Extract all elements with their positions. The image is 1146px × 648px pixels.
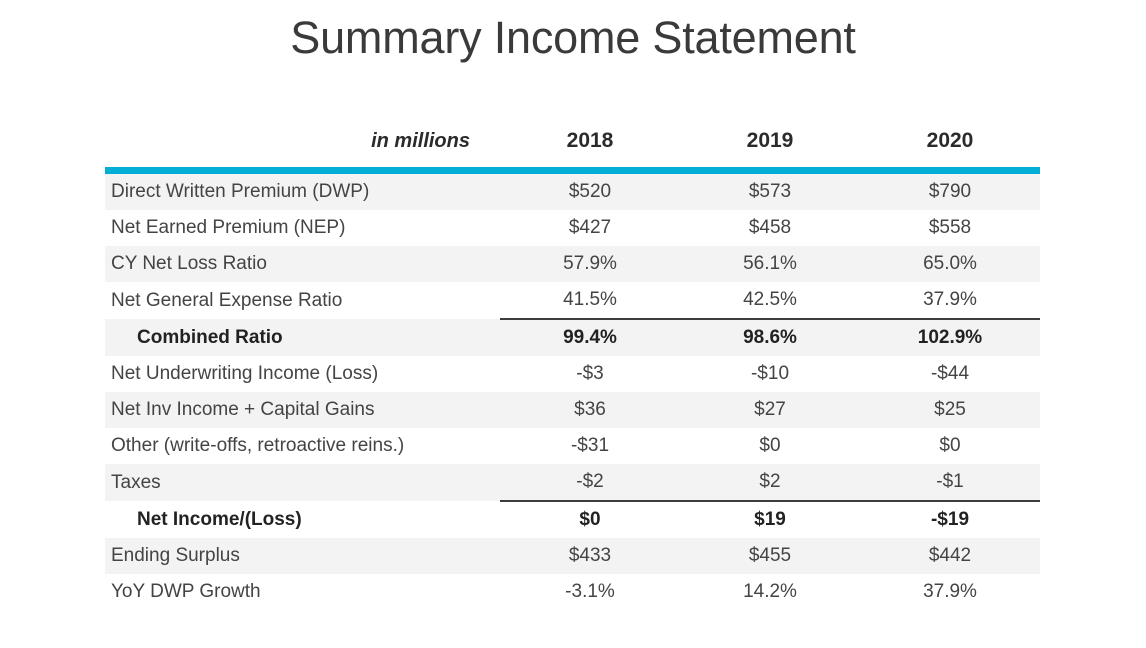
row-value: $25: [860, 392, 1040, 428]
row-value: -$19: [860, 501, 1040, 538]
row-label: Net Inv Income + Capital Gains: [105, 392, 500, 428]
row-value: -$44: [860, 356, 1040, 392]
row-label: Other (write-offs, retroactive reins.): [105, 428, 500, 464]
table-row: Net Inv Income + Capital Gains$36$27$25: [105, 392, 1040, 428]
row-value: $19: [680, 501, 860, 538]
row-value: 14.2%: [680, 574, 860, 610]
row-label: Ending Surplus: [105, 538, 500, 574]
table-row: Net Underwriting Income (Loss)-$3-$10-$4…: [105, 356, 1040, 392]
row-value: $558: [860, 210, 1040, 246]
row-value: 37.9%: [860, 282, 1040, 319]
row-value: 102.9%: [860, 319, 1040, 356]
row-value: $2: [680, 464, 860, 501]
row-value: 42.5%: [680, 282, 860, 319]
row-value: 37.9%: [860, 574, 1040, 610]
row-label: Net Income/(Loss): [105, 501, 500, 538]
row-value: -$3: [500, 356, 680, 392]
table-row: YoY DWP Growth-3.1%14.2%37.9%: [105, 574, 1040, 610]
table-row: Net General Expense Ratio41.5%42.5%37.9%: [105, 282, 1040, 319]
row-label: CY Net Loss Ratio: [105, 246, 500, 282]
row-value: 56.1%: [680, 246, 860, 282]
row-value: $427: [500, 210, 680, 246]
row-label: Combined Ratio: [105, 319, 500, 356]
header-units-label: in millions: [105, 115, 500, 167]
table-row: Net Income/(Loss)$0$19-$19: [105, 501, 1040, 538]
row-label: Net General Expense Ratio: [105, 282, 500, 319]
row-label: Direct Written Premium (DWP): [105, 174, 500, 210]
table-body: Direct Written Premium (DWP)$520$573$790…: [105, 167, 1040, 610]
row-value: -$1: [860, 464, 1040, 501]
row-value: $520: [500, 174, 680, 210]
row-value: $455: [680, 538, 860, 574]
column-header-year-2020: 2020: [860, 115, 1040, 167]
table-row: Other (write-offs, retroactive reins.)-$…: [105, 428, 1040, 464]
row-value: -$2: [500, 464, 680, 501]
row-value: 65.0%: [860, 246, 1040, 282]
table-row: Net Earned Premium (NEP)$427$458$558: [105, 210, 1040, 246]
accent-bar-segment: [680, 167, 860, 174]
accent-bar-segment: [500, 167, 680, 174]
row-value: $790: [860, 174, 1040, 210]
row-value: $458: [680, 210, 860, 246]
table-row: Ending Surplus$433$455$442: [105, 538, 1040, 574]
accent-bar-row: [105, 167, 1040, 174]
row-label: Net Underwriting Income (Loss): [105, 356, 500, 392]
row-value: $0: [680, 428, 860, 464]
row-value: $27: [680, 392, 860, 428]
column-header-year-2018: 2018: [500, 115, 680, 167]
row-value: $433: [500, 538, 680, 574]
row-label: Taxes: [105, 464, 500, 501]
accent-bar-segment: [105, 167, 500, 174]
table-header: in millions 2018 2019 2020: [105, 115, 1040, 167]
row-label: Net Earned Premium (NEP): [105, 210, 500, 246]
table-row: CY Net Loss Ratio57.9%56.1%65.0%: [105, 246, 1040, 282]
row-value: -$31: [500, 428, 680, 464]
row-value: -$10: [680, 356, 860, 392]
row-value: $573: [680, 174, 860, 210]
table-row: Taxes-$2$2-$1: [105, 464, 1040, 501]
row-value: $0: [500, 501, 680, 538]
accent-bar-segment: [860, 167, 1040, 174]
row-value: 99.4%: [500, 319, 680, 356]
row-value: $36: [500, 392, 680, 428]
row-value: -3.1%: [500, 574, 680, 610]
table-row: Combined Ratio99.4%98.6%102.9%: [105, 319, 1040, 356]
row-value: 57.9%: [500, 246, 680, 282]
row-value: $0: [860, 428, 1040, 464]
column-header-year-2019: 2019: [680, 115, 860, 167]
row-value: 98.6%: [680, 319, 860, 356]
header-row: in millions 2018 2019 2020: [105, 115, 1040, 167]
income-statement-table: in millions 2018 2019 2020 Direct Writte…: [105, 115, 1040, 610]
row-label: YoY DWP Growth: [105, 574, 500, 610]
table-row: Direct Written Premium (DWP)$520$573$790: [105, 174, 1040, 210]
page-title: Summary Income Statement: [0, 8, 1146, 68]
row-value: 41.5%: [500, 282, 680, 319]
row-value: $442: [860, 538, 1040, 574]
